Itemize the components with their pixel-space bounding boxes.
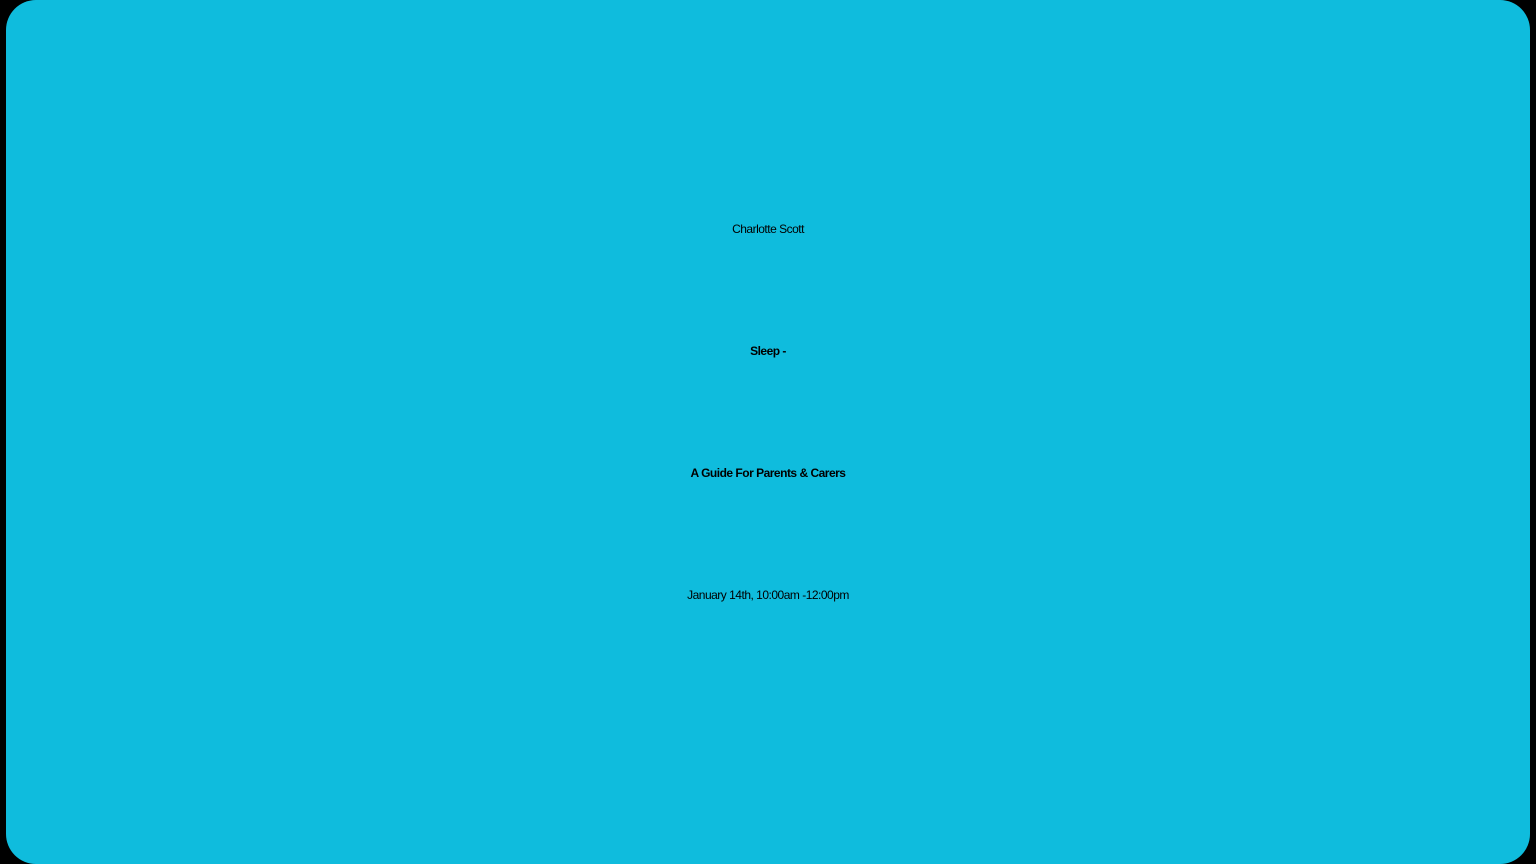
event-subtitle: A Guide For Parents & Carers [6,412,1530,534]
screenshot-frame: Charlotte Scott Sleep - A Guide For Pare… [0,0,1536,864]
event-card: Charlotte Scott Sleep - A Guide For Pare… [6,0,1530,864]
event-datetime: January 14th, 10:00am -12:00pm [6,534,1530,656]
event-card-text-block: Charlotte Scott Sleep - A Guide For Pare… [6,168,1530,656]
event-topic: Sleep - [6,290,1530,412]
presenter-name: Charlotte Scott [6,168,1530,290]
